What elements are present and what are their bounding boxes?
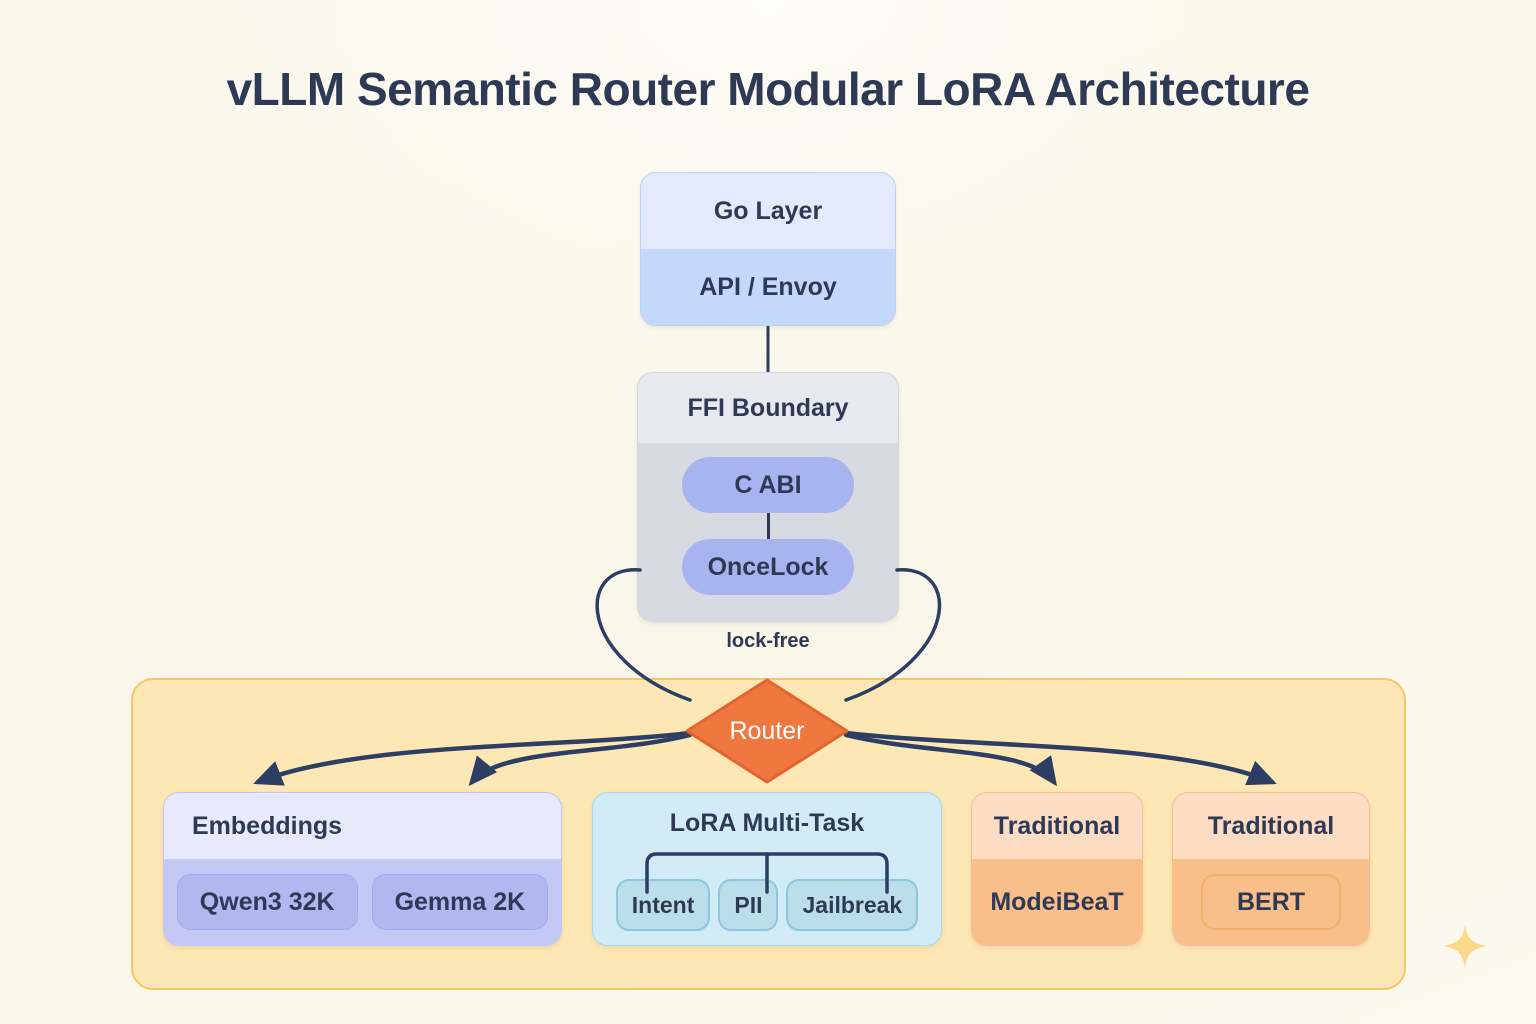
embeddings-header: Embeddings (164, 793, 561, 859)
traditional-1-body: ModeiBeaT (972, 859, 1142, 945)
traditional-1-model-label: ModeiBeaT (990, 888, 1123, 917)
node-go-layer[interactable]: Go Layer API / Envoy (640, 172, 896, 326)
lora-body: Intent PII Jailbreak (593, 853, 941, 945)
lora-header: LoRA Multi-Task (593, 793, 941, 853)
go-layer-header: Go Layer (641, 173, 895, 249)
page-title: vLLM Semantic Router Modular LoRA Archit… (0, 62, 1536, 116)
embeddings-body: Qwen3 32K Gemma 2K (164, 859, 561, 945)
node-ffi-boundary[interactable]: FFI Boundary C ABI OnceLock (637, 372, 899, 622)
traditional-1-header: Traditional (972, 793, 1142, 859)
node-embeddings[interactable]: Embeddings Qwen3 32K Gemma 2K (163, 792, 562, 946)
go-layer-body: API / Envoy (641, 249, 895, 325)
lora-pill-pii[interactable]: PII (718, 879, 778, 931)
edge-label-lock-free: lock-free (0, 630, 1536, 653)
lora-pill-jailbreak[interactable]: Jailbreak (786, 879, 918, 931)
node-traditional-2[interactable]: Traditional BERT (1172, 792, 1370, 946)
ffi-pill-oncelock[interactable]: OnceLock (682, 539, 854, 595)
embeddings-pill-qwen3[interactable]: Qwen3 32K (177, 874, 358, 930)
traditional-2-body: BERT (1173, 859, 1369, 945)
node-router[interactable] (683, 676, 851, 786)
ffi-pill-c-abi[interactable]: C ABI (682, 457, 854, 513)
node-traditional-1[interactable]: Traditional ModeiBeaT (971, 792, 1143, 946)
lora-pill-intent[interactable]: Intent (616, 879, 711, 931)
traditional-2-pill-bert[interactable]: BERT (1201, 874, 1341, 930)
embeddings-pill-gemma[interactable]: Gemma 2K (372, 874, 549, 930)
node-lora-multitask[interactable]: LoRA Multi-Task Intent PII Jailbreak (592, 792, 942, 946)
diagram-canvas: vLLM Semantic Router Modular LoRA Archit… (0, 0, 1536, 1024)
ffi-header: FFI Boundary (638, 373, 898, 443)
sparkle-icon (1441, 922, 1489, 970)
ffi-pill-connector (767, 513, 770, 539)
traditional-2-header: Traditional (1173, 793, 1369, 859)
ffi-body: C ABI OnceLock (638, 443, 898, 621)
